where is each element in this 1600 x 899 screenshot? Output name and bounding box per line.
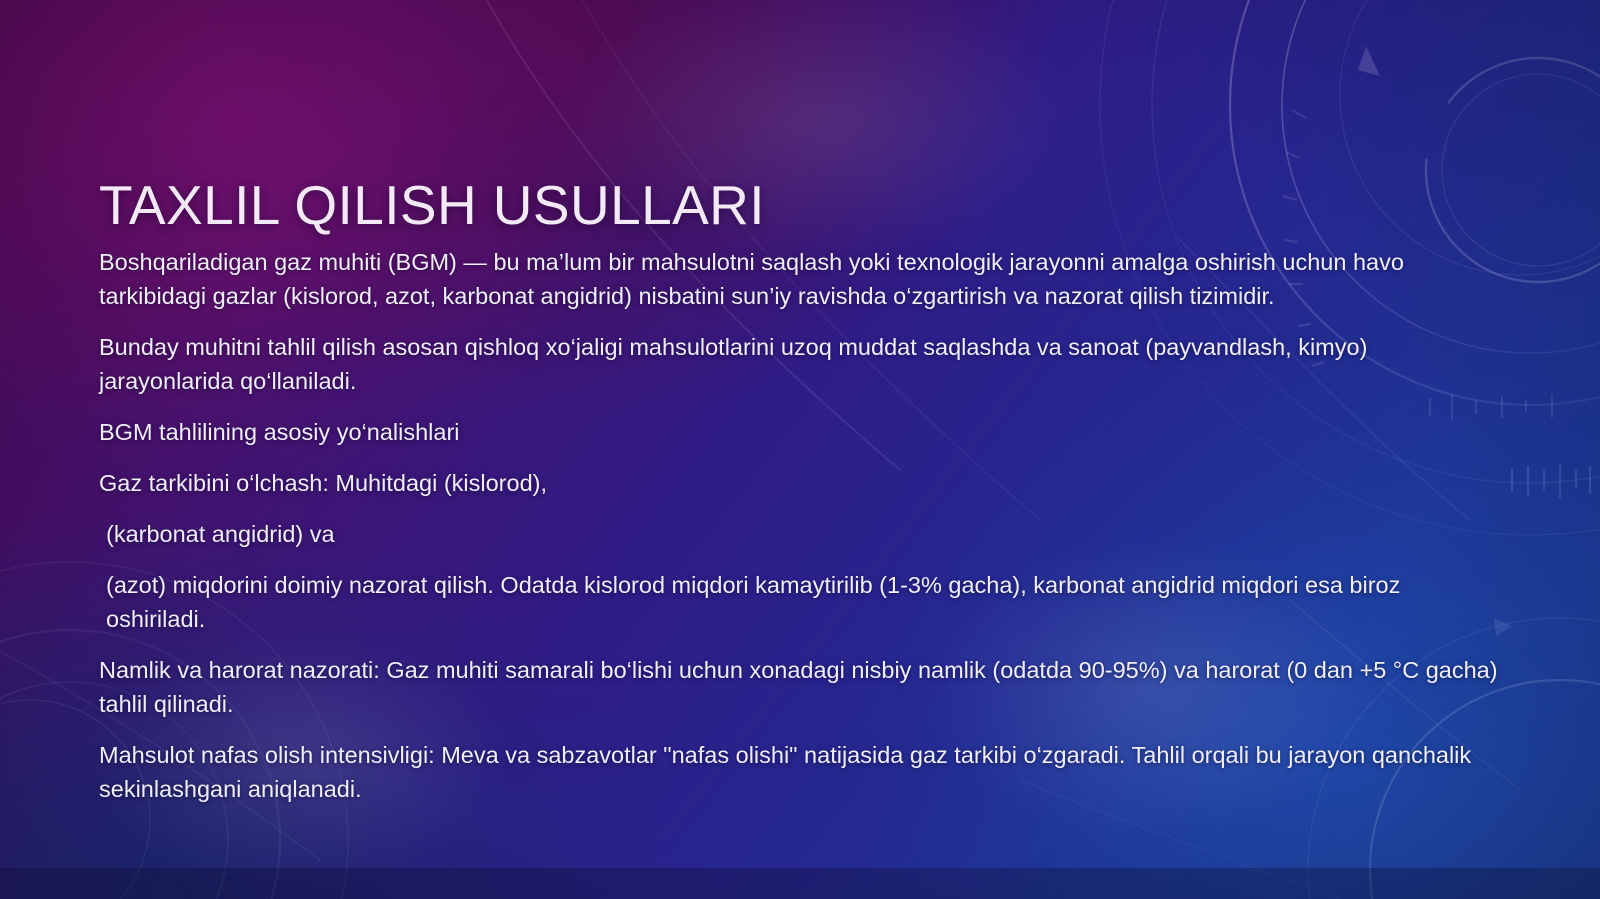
slide-body: Boshqariladigan gaz muhiti (BGM) — bu ma…: [99, 245, 1499, 806]
slide-title: TAXLIL QILISH USULLARI: [99, 173, 765, 237]
body-paragraph: Gaz tarkibini o‘lchash: Muhitdagi (kislo…: [99, 466, 1499, 500]
presentation-slide: TAXLIL QILISH USULLARI Boshqariladigan g…: [0, 0, 1600, 899]
body-paragraph: Boshqariladigan gaz muhiti (BGM) — bu ma…: [99, 245, 1499, 313]
body-paragraph: Bunday muhitni tahlil qilish asosan qish…: [99, 330, 1499, 398]
body-paragraph: (karbonat angidrid) va: [99, 517, 1499, 551]
body-paragraph: Mahsulot nafas olish intensivligi: Meva …: [99, 738, 1499, 806]
bottom-edge-shade: [0, 868, 1600, 899]
triangle-marker-icon: [1358, 46, 1380, 76]
tick-marks-icon: [1512, 464, 1590, 498]
body-paragraph: Namlik va harorat nazorati: Gaz muhiti s…: [99, 653, 1499, 721]
body-paragraph: (azot) miqdorini doimiy nazorat qilish. …: [99, 568, 1499, 636]
body-paragraph: BGM tahlilining asosiy yo‘nalishlari: [99, 415, 1499, 449]
